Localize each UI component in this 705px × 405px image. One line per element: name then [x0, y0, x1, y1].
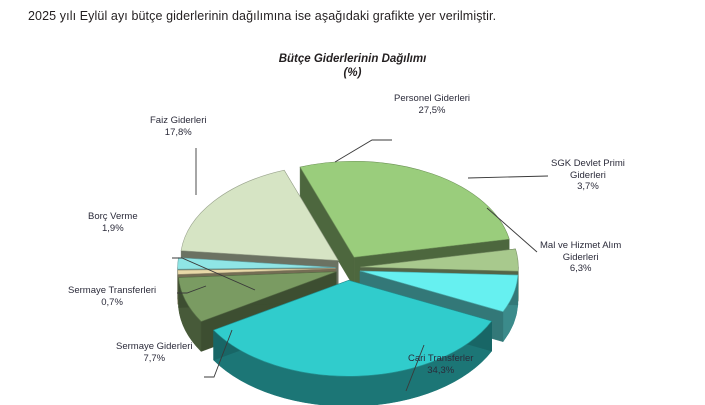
- slice-label-personel: Personel Giderleri 27,5%: [394, 93, 470, 116]
- slice-label-sgk-line2: Giderleri: [551, 170, 625, 182]
- slice-label-cari-pct: 34,3%: [408, 365, 473, 377]
- slice-label-sermaye-transferleri-name: Sermaye Transferleri: [68, 285, 156, 296]
- slice-label-sermaye-giderleri-name: Sermaye Giderleri: [116, 341, 193, 352]
- slice-label-cari-name: Cari Transferler: [408, 353, 473, 364]
- slice-label-sgk-line1: SGK Devlet Primi: [551, 158, 625, 169]
- slice-label-borc-verme-pct: 1,9%: [88, 223, 138, 235]
- slice-label-borc-verme-name: Borç Verme: [88, 211, 138, 222]
- slice-label-mal-line1: Mal ve Hizmet Alım: [540, 240, 621, 251]
- slice-label-personel-pct: 27,5%: [394, 105, 470, 117]
- slice-label-personel-name: Personel Giderleri: [394, 93, 470, 104]
- slice-label-sermaye-transferleri: Sermaye Transferleri 0,7%: [68, 285, 156, 308]
- slice-label-sermaye-transferleri-pct: 0,7%: [68, 297, 156, 309]
- slice-label-faiz: Faiz Giderleri 17,8%: [150, 115, 207, 138]
- slice-label-faiz-name: Faiz Giderleri: [150, 115, 207, 126]
- slice-label-sermaye-giderleri-pct: 7,7%: [116, 353, 193, 365]
- slice-label-cari: Cari Transferler 34,3%: [408, 353, 473, 376]
- slice-label-sgk: SGK Devlet Primi Giderleri 3,7%: [551, 158, 625, 193]
- slice-label-sermaye-giderleri: Sermaye Giderleri 7,7%: [116, 341, 193, 364]
- intro-paragraph: 2025 yılı Eylül ayı bütçe giderlerinin d…: [28, 8, 678, 24]
- slice-label-mal-line2: Giderleri: [540, 252, 621, 264]
- pie-chart-figure: Bütçe Giderlerinin Dağılımı (%) Personel…: [0, 40, 705, 405]
- slice-label-mal-pct: 6,3%: [540, 263, 621, 275]
- slice-label-borc-verme: Borç Verme 1,9%: [88, 211, 138, 234]
- leader-line-personel: [335, 140, 392, 162]
- slice-label-sgk-pct: 3,7%: [551, 181, 625, 193]
- slice-label-faiz-pct: 17,8%: [150, 127, 207, 139]
- slice-label-mal: Mal ve Hizmet Alım Giderleri 6,3%: [540, 240, 621, 275]
- leader-line-sgk: [468, 176, 548, 178]
